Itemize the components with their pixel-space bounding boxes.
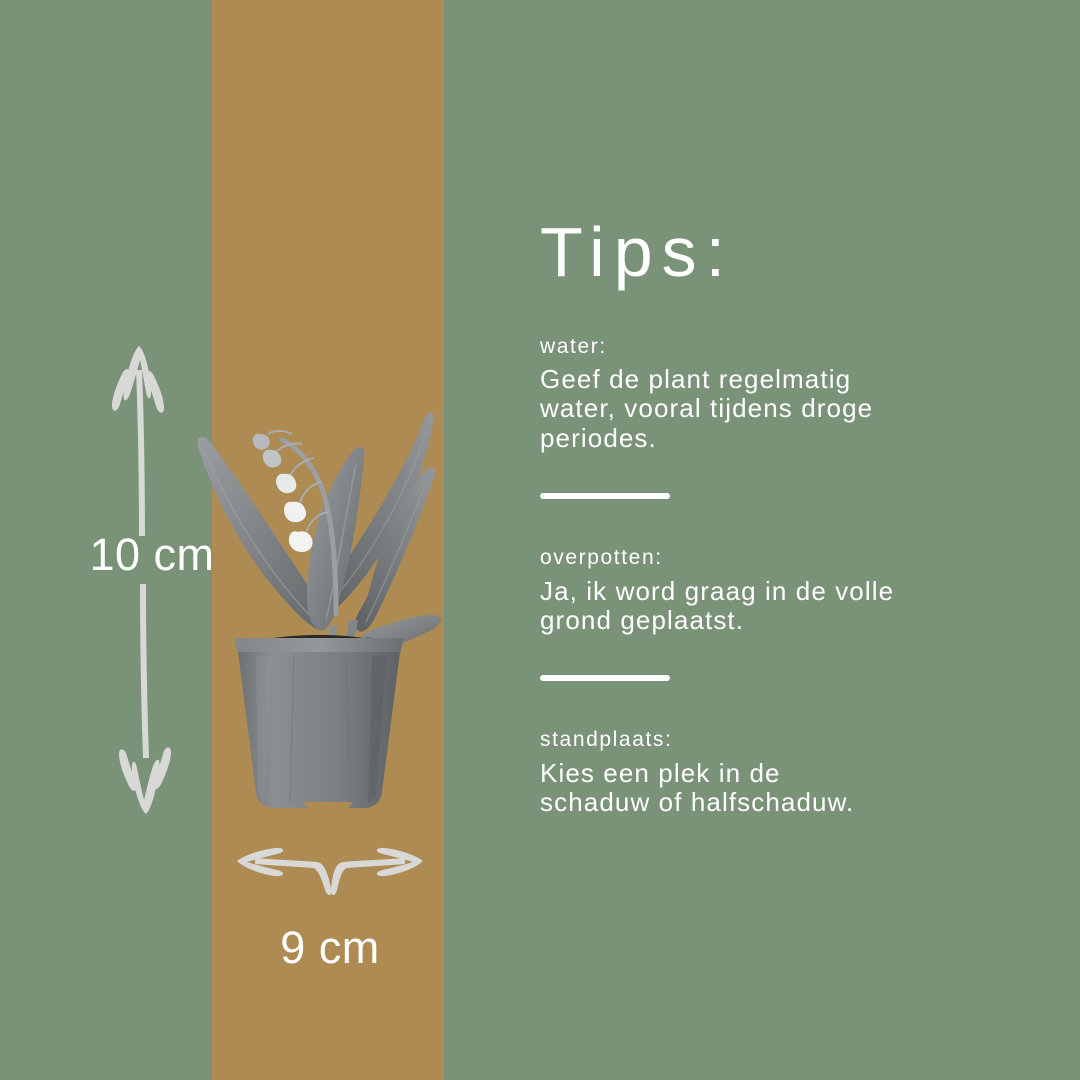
tip-overpotten-label: overpotten: [540,543,1010,573]
width-measure [235,840,425,910]
tip-standplaats-body: Kies een plek in de schaduw of halfschad… [540,759,1010,818]
tips-title: Tips: [540,216,1010,290]
tip-standplaats-label: standplaats: [540,725,1010,755]
width-label: 9 cm [230,925,430,970]
infographic-canvas: 10 cm 9 cm Tips: water: Geef de plant re… [0,0,1080,1080]
height-measure: 10 cm [82,340,202,820]
tip-divider-2 [540,675,670,681]
tip-overpotten: overpotten: Ja, ik word graag in de voll… [540,543,1010,635]
tip-divider-1 [540,493,670,499]
tip-standplaats: standplaats: Kies een plek in de schaduw… [540,725,1010,817]
tip-water-label: water: [540,332,1010,362]
tips-panel: Tips: water: Geef de plant regelmatig wa… [540,216,1010,817]
tip-overpotten-body: Ja, ik word graag in de volle grond gepl… [540,577,1010,636]
tip-water-body: Geef de plant regelmatig water, vooral t… [540,365,1010,453]
tip-water: water: Geef de plant regelmatig water, v… [540,332,1010,454]
plant-illustration [186,352,452,814]
height-label: 10 cm [62,532,242,577]
